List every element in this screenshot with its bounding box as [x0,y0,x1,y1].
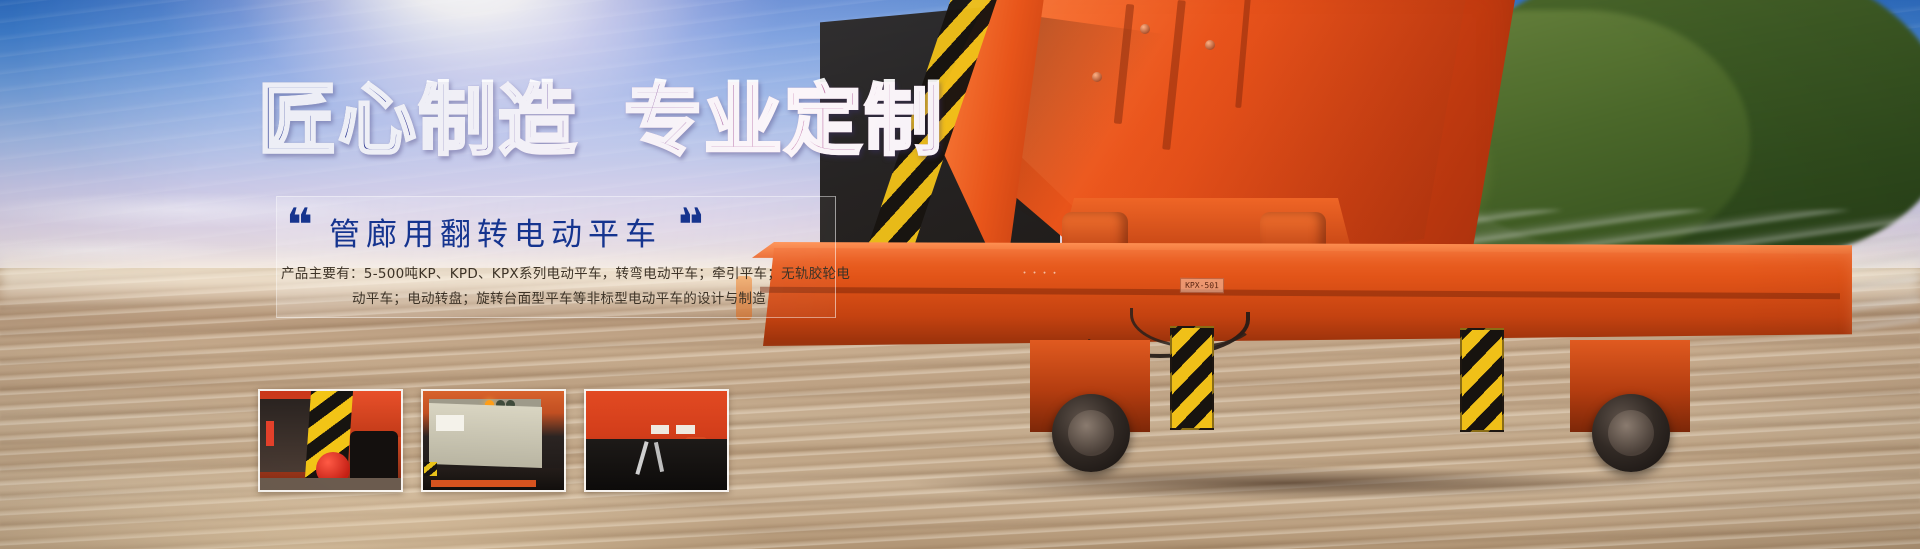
cart-ground-shadow [760,460,1820,506]
subtitle-text: 管廊用翻转电动平车 [329,209,662,254]
thumbnail-image-machinery-detail [586,391,727,490]
thumb2-orange-bar [431,480,535,487]
thumb2-hazard-stripes [424,462,437,476]
cart-id-plate: KPX-501 [1180,278,1224,293]
cart-brand-mark: ・・・・ [1020,266,1060,279]
description-block: 产品主要有：5-500吨KP、KPD、KPX系列电动平车，转弯电动平车；牵引平车… [281,262,837,312]
thumb1-wheel-housing [350,431,398,482]
hazard-stripe-chassis-left [1170,326,1214,430]
thumbnail-item-3[interactable] [584,389,729,492]
thumb1-orange-block [347,391,401,437]
description-line-1: 产品主要有：5-500吨KP、KPD、KPX系列电动平车，转弯电动平车；牵引平车… [281,262,837,287]
page-title: 匠心制造专业定制 [258,82,944,160]
quote-close-icon: ❝ [678,202,705,248]
bolt [1140,24,1150,34]
thumbnail-strip [258,389,729,492]
hero-banner: ・・・・ KPX-501 匠心制造专业定制 ❝ 管廊用翻转电动平车 ❝ 产品主要… [0,0,1920,549]
thumbnail-image-hazard-corner [260,391,401,490]
thumb1-floor [260,478,401,490]
description-line-2: 动平车；电动转盘；旋转台面型平车等非标型电动平车的设计与制造 [281,287,837,312]
headline-right: 专业定制 [624,76,944,166]
thumbnail-image-control-cabinet [423,391,564,490]
thumb2-cabinet-body [429,403,542,468]
thumb2-spec-label [436,415,464,431]
bolt [1092,72,1102,82]
thumbnail-item-1[interactable] [258,389,403,492]
quote-open-icon: ❝ [286,202,313,248]
thumb3-white-panel [676,425,694,434]
wheel-rim [1068,410,1114,456]
subtitle-row: ❝ 管廊用翻转电动平车 ❝ [286,206,831,256]
thumbnail-item-2[interactable] [421,389,566,492]
wheel-rim [1608,410,1654,456]
bolt [1205,40,1215,50]
hazard-stripe-chassis-right [1460,328,1504,432]
headline-left: 匠心制造 [258,76,578,166]
thumb1-red-strip [266,421,274,447]
thumb3-white-panel [651,425,669,434]
